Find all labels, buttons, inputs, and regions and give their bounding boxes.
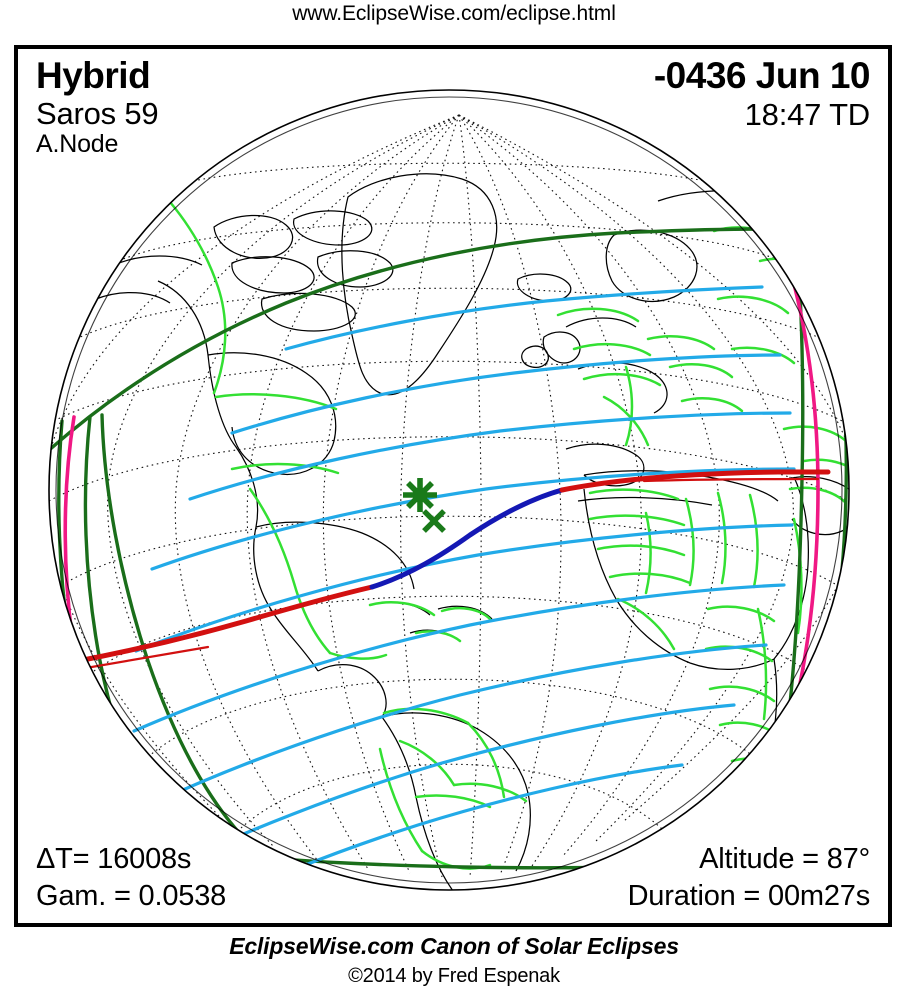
globe-disk (49, 90, 849, 890)
source-url: www.EclipseWise.com/eclipse.html (0, 2, 908, 26)
eclipse-info-top-left: Hybrid Saros 59 A.Node (36, 57, 158, 158)
footer-title: EclipseWise.com Canon of Solar Eclipses (0, 933, 908, 960)
footer-credit: ©2014 by Fred Espenak (0, 965, 908, 988)
eclipse-time: 18:47 TD (654, 99, 870, 132)
greatest-eclipse-dot (413, 488, 428, 503)
duration-value: Duration = 00m27s (628, 878, 870, 915)
saros-series: Saros 59 (36, 98, 158, 131)
eclipse-info-top-right: -0436 Jun 10 18:47 TD (654, 57, 870, 131)
globe-map (18, 49, 888, 923)
node-label: A.Node (36, 131, 158, 157)
eclipse-type: Hybrid (36, 57, 158, 96)
eclipse-map-frame: Hybrid Saros 59 A.Node -0436 Jun 10 18:4… (14, 45, 892, 927)
eclipse-date: -0436 Jun 10 (654, 57, 870, 96)
gamma-value: Gam. = 0.0538 (36, 878, 226, 915)
eclipse-map-page: www.EclipseWise.com/eclipse.html (0, 0, 908, 1004)
eclipse-info-bottom-left: ΔT= 16008s Gam. = 0.0538 (36, 841, 226, 915)
altitude-value: Altitude = 87° (628, 841, 870, 878)
eclipse-info-bottom-right: Altitude = 87° Duration = 00m27s (628, 841, 870, 915)
delta-t-value: ΔT= 16008s (36, 841, 226, 878)
page-footer: EclipseWise.com Canon of Solar Eclipses … (0, 933, 908, 988)
